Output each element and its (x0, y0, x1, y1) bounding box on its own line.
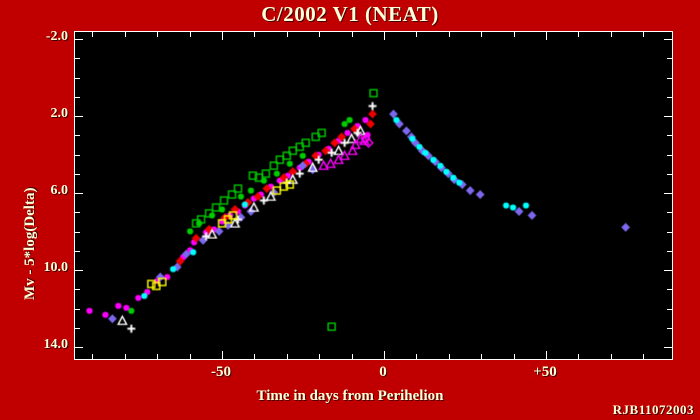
axis-tick (664, 347, 672, 348)
axis-tick (611, 32, 612, 37)
axis-tick (667, 58, 672, 59)
y-tick-label: -2.0 (46, 29, 68, 45)
axis-tick (664, 270, 672, 271)
axis-tick (546, 351, 547, 359)
y-tick-label: 2.0 (51, 106, 69, 122)
axis-tick (352, 354, 353, 359)
axis-tick (75, 232, 80, 233)
axis-tick (190, 32, 191, 37)
axis-tick (664, 116, 672, 117)
axis-tick (667, 289, 672, 290)
axis-tick (667, 97, 672, 98)
y-axis-title: Mv - 5*log(Delta) (22, 188, 39, 300)
axis-tick (75, 328, 80, 329)
axis-tick (667, 155, 672, 156)
axis-tick (384, 351, 385, 359)
axis-tick (449, 32, 450, 37)
axis-tick (222, 32, 223, 40)
axis-tick (254, 354, 255, 359)
axis-tick (75, 135, 80, 136)
axis-tick (75, 174, 80, 175)
axis-tick (352, 32, 353, 37)
axis-tick (664, 193, 672, 194)
axis-tick (384, 32, 385, 40)
axis-tick (75, 97, 80, 98)
axis-tick (75, 289, 80, 290)
x-tick-label: 0 (353, 364, 413, 381)
axis-tick (667, 251, 672, 252)
axis-tick (157, 354, 158, 359)
axis-tick (416, 32, 417, 37)
y-tick-label: 10.0 (44, 260, 69, 276)
axis-tick (287, 354, 288, 359)
axis-tick (481, 32, 482, 37)
axis-tick (92, 32, 93, 37)
x-tick-label: -50 (191, 364, 251, 381)
axis-tick (75, 58, 80, 59)
axis-tick (319, 354, 320, 359)
axis-tick (514, 32, 515, 37)
axis-tick (664, 39, 672, 40)
axis-tick (416, 354, 417, 359)
axis-tick (546, 32, 547, 40)
axis-tick (75, 251, 80, 252)
scatter-canvas (75, 32, 672, 359)
axis-tick (667, 212, 672, 213)
axis-tick (254, 32, 255, 37)
axis-tick (611, 354, 612, 359)
axis-tick (667, 135, 672, 136)
axis-tick (643, 354, 644, 359)
axis-tick (125, 32, 126, 37)
axis-tick (75, 347, 83, 348)
axis-tick (75, 193, 83, 194)
axis-tick (667, 232, 672, 233)
axis-tick (667, 328, 672, 329)
axis-tick (667, 78, 672, 79)
x-tick-label: +50 (515, 364, 575, 381)
axis-tick (75, 212, 80, 213)
axis-tick (157, 32, 158, 37)
axis-tick (319, 32, 320, 37)
axis-tick (125, 354, 126, 359)
plot-area (74, 31, 673, 360)
axis-tick (75, 270, 83, 271)
axis-tick (75, 309, 80, 310)
chart-page: C/2002 V1 (NEAT) Mv - 5*log(Delta) Time … (0, 0, 700, 420)
axis-tick (514, 354, 515, 359)
axis-tick (667, 174, 672, 175)
axis-tick (481, 354, 482, 359)
axis-tick (578, 32, 579, 37)
axis-tick (190, 354, 191, 359)
credit-watermark: RJB11072003 (613, 402, 694, 418)
axis-tick (449, 354, 450, 359)
axis-tick (222, 351, 223, 359)
y-tick-label: 6.0 (51, 183, 69, 199)
axis-tick (578, 354, 579, 359)
axis-tick (287, 32, 288, 37)
x-axis-title: Time in days from Perihelion (0, 388, 700, 405)
axis-tick (75, 78, 80, 79)
axis-tick (643, 32, 644, 37)
axis-tick (667, 309, 672, 310)
axis-tick (92, 354, 93, 359)
page-title: C/2002 V1 (NEAT) (0, 2, 700, 27)
axis-tick (75, 155, 80, 156)
y-tick-label: 14.0 (44, 337, 69, 353)
axis-tick (75, 39, 83, 40)
axis-tick (75, 116, 83, 117)
